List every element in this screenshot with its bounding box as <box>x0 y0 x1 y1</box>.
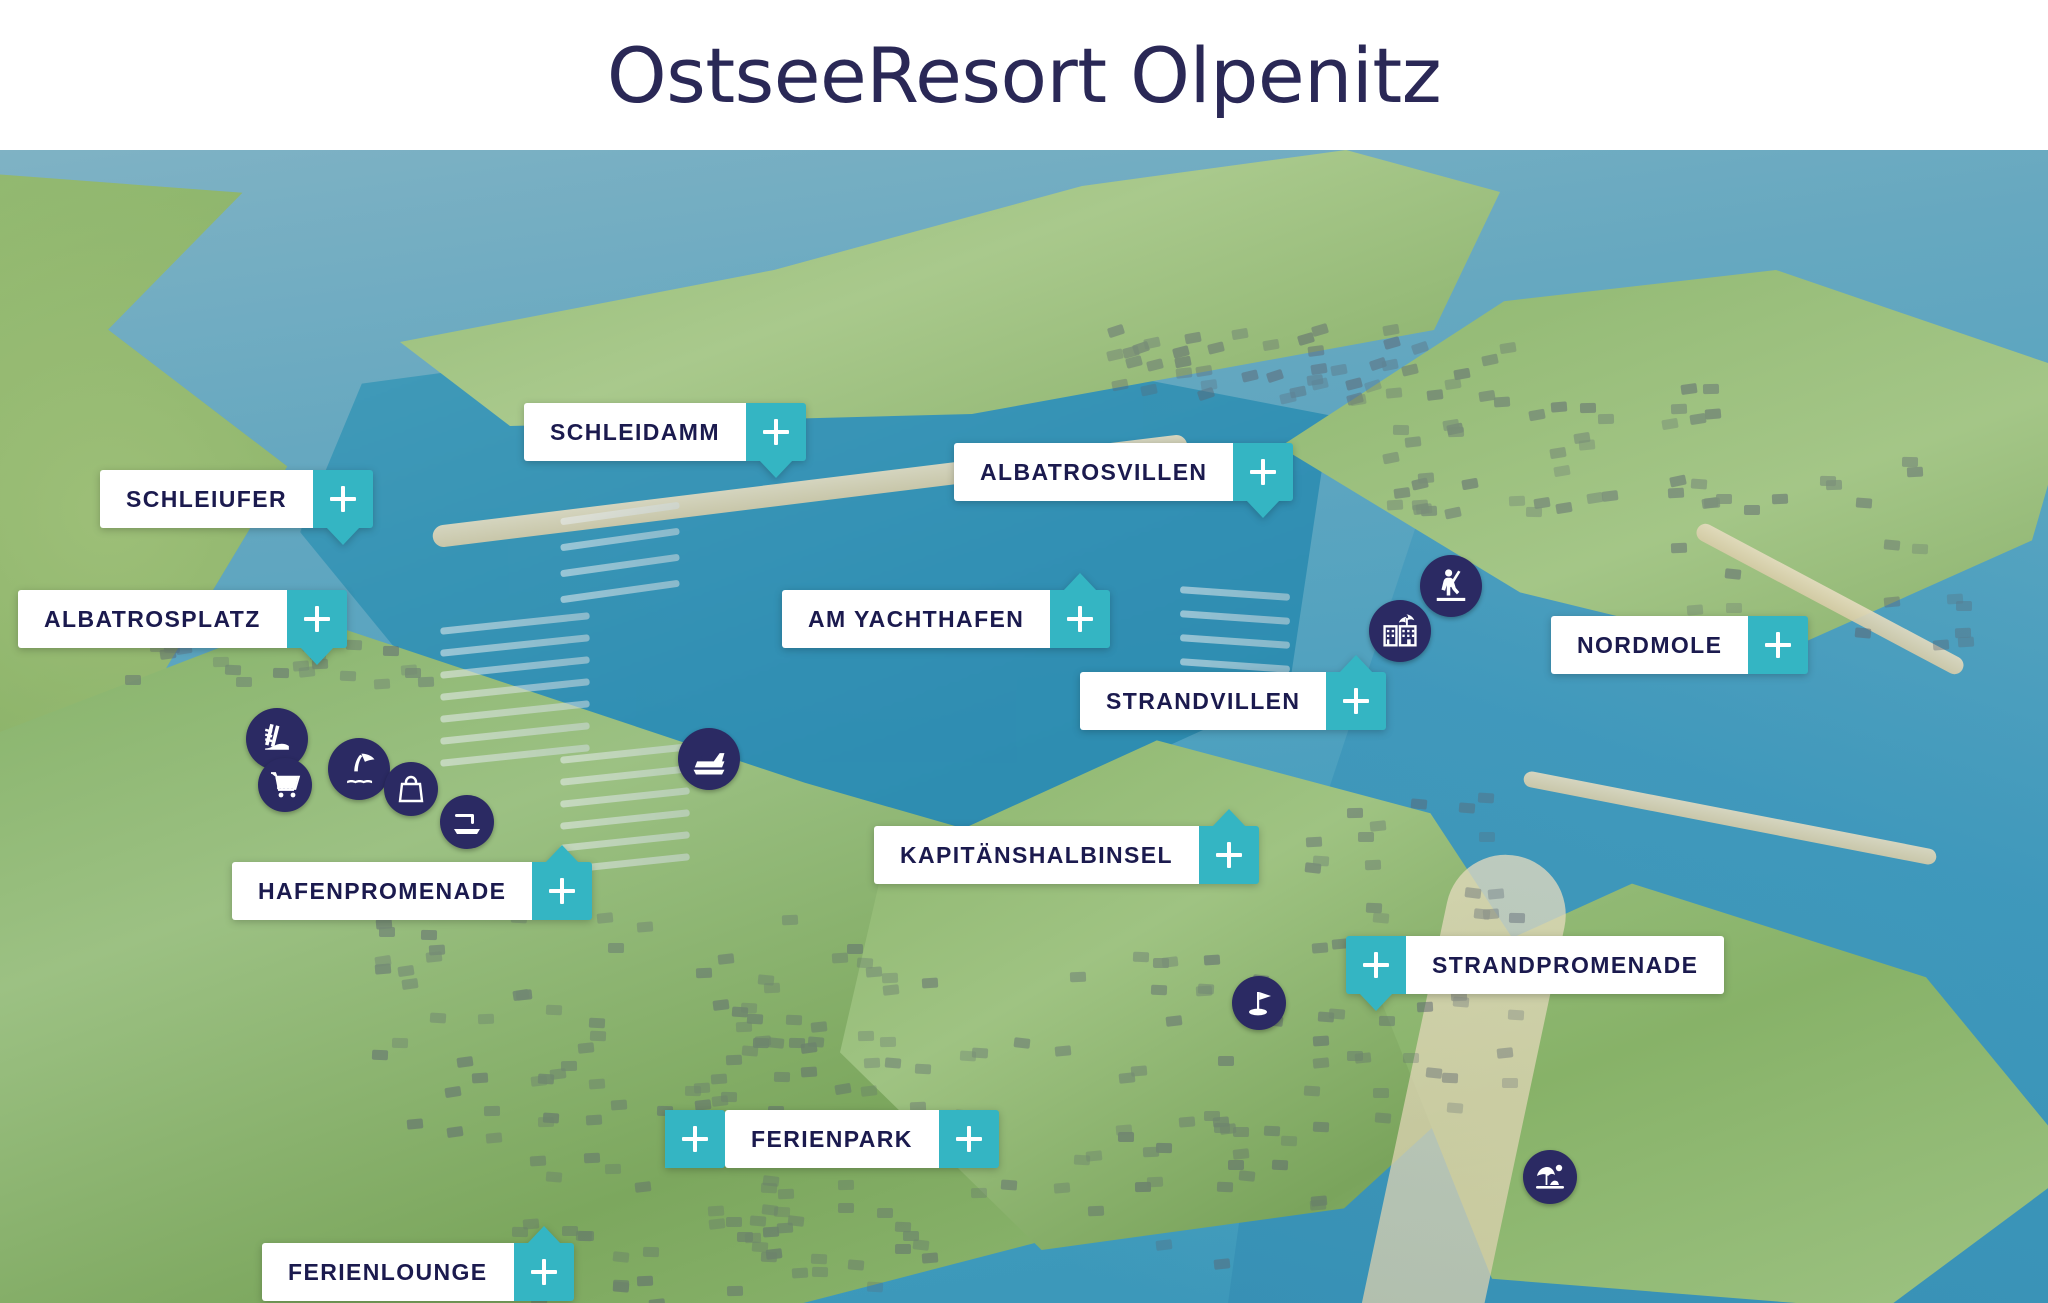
hotspot-label-box[interactable]: STRANDVILLEN <box>1080 672 1326 730</box>
hotspot-label-text: STRANDVILLEN <box>1106 688 1300 715</box>
motor-yacht-icon[interactable] <box>678 728 740 790</box>
page-root: OstseeResort Olpenitz SCHLEIDAMMALBATROS… <box>0 0 2048 1303</box>
hotspot-label-text: ALBATROSVILLEN <box>980 459 1207 486</box>
hotspot-label-text: FERIENLOUNGE <box>288 1259 488 1286</box>
hotspot-label-text: ALBATROSPLATZ <box>44 606 261 633</box>
hotspot-label-text: KAPITÄNSHALBINSEL <box>900 842 1173 869</box>
pointer-up-icon <box>1339 655 1373 673</box>
resort-map[interactable]: SCHLEIDAMMALBATROSVILLENSCHLEIUFERALBATR… <box>0 150 2048 1303</box>
pointer-down-icon <box>1246 500 1280 518</box>
hotspot-schleidamm[interactable]: SCHLEIDAMM <box>524 403 806 461</box>
shopping-cart-icon[interactable] <box>258 758 312 812</box>
plus-icon[interactable] <box>532 862 592 920</box>
hotspot-schleiufer[interactable]: SCHLEIUFER <box>100 470 373 528</box>
page-title: OstseeResort Olpenitz <box>607 31 1441 120</box>
hotspot-label-text: HAFENPROMENADE <box>258 878 506 905</box>
beach-umbrella-icon[interactable] <box>1523 1150 1577 1204</box>
plus-icon[interactable] <box>313 470 373 528</box>
hotspot-label-text: SCHLEIUFER <box>126 486 287 513</box>
kitesurf-icon[interactable] <box>328 738 390 800</box>
hotspot-label-text: SCHLEIDAMM <box>550 419 720 446</box>
hotspot-label-box[interactable]: FERIENLOUNGE <box>262 1243 514 1301</box>
hotspot-label-box[interactable]: KAPITÄNSHALBINSEL <box>874 826 1199 884</box>
hotspot-label-text: FERIENPARK <box>751 1126 913 1153</box>
hotspot-albatrosplatz[interactable]: ALBATROSPLATZ <box>18 590 347 648</box>
hotspot-label-box[interactable]: AM YACHTHAFEN <box>782 590 1050 648</box>
hotspot-ferienlounge[interactable]: FERIENLOUNGE <box>262 1243 574 1301</box>
hotspot-label-box[interactable]: NORDMOLE <box>1551 616 1748 674</box>
pointer-up-icon <box>1063 573 1097 591</box>
plus-icon[interactable] <box>746 403 806 461</box>
golf-flag-icon[interactable] <box>1232 976 1286 1030</box>
plus-icon[interactable] <box>1346 936 1406 994</box>
hotspot-label-box[interactable]: SCHLEIUFER <box>100 470 313 528</box>
hotspot-label-box[interactable]: ALBATROSVILLEN <box>954 443 1233 501</box>
pointer-up-icon <box>545 845 579 863</box>
pointer-up-icon <box>1212 809 1246 827</box>
shopping-bag-icon[interactable] <box>384 762 438 816</box>
hotspot-label-box[interactable]: HAFENPROMENADE <box>232 862 532 920</box>
hotspot-label-text: NORDMOLE <box>1577 632 1722 659</box>
hotspot-label-box[interactable]: FERIENPARK <box>725 1110 939 1168</box>
pointer-down-icon <box>759 460 793 478</box>
hotspot-kapitaenshalbinsel[interactable]: KAPITÄNSHALBINSEL <box>874 826 1259 884</box>
plus-icon[interactable] <box>939 1110 999 1168</box>
hotspot-strandpromenade[interactable]: STRANDPROMENADE <box>1346 936 1724 994</box>
plus-icon[interactable] <box>665 1110 725 1168</box>
hotspot-albatrosvillen[interactable]: ALBATROSVILLEN <box>954 443 1293 501</box>
page-header: OstseeResort Olpenitz <box>0 0 2048 150</box>
hotspot-am-yachthafen[interactable]: AM YACHTHAFEN <box>782 590 1110 648</box>
plus-icon[interactable] <box>1233 443 1293 501</box>
hotspot-hafenpromenade[interactable]: HAFENPROMENADE <box>232 862 592 920</box>
plus-icon[interactable] <box>287 590 347 648</box>
plus-icon[interactable] <box>1199 826 1259 884</box>
resort-building-icon[interactable] <box>1369 600 1431 662</box>
hotspot-label-text: STRANDPROMENADE <box>1432 952 1698 979</box>
pointer-down-icon <box>326 527 360 545</box>
plus-icon[interactable] <box>1050 590 1110 648</box>
plus-icon[interactable] <box>1326 672 1386 730</box>
pointer-up-icon <box>527 1226 561 1244</box>
pointer-down-icon <box>300 647 334 665</box>
hotspot-label-box[interactable]: ALBATROSPLATZ <box>18 590 287 648</box>
hotspot-label-box[interactable]: SCHLEIDAMM <box>524 403 746 461</box>
hotspot-ferienpark[interactable]: FERIENPARK <box>665 1110 999 1168</box>
boat-ramp-icon[interactable] <box>440 795 494 849</box>
hotspot-label-text: AM YACHTHAFEN <box>808 606 1024 633</box>
plus-icon[interactable] <box>514 1243 574 1301</box>
paddleboard-icon[interactable] <box>1420 555 1482 617</box>
hotspot-nordmole[interactable]: NORDMOLE <box>1551 616 1808 674</box>
pointer-down-icon <box>1359 993 1393 1011</box>
plus-icon[interactable] <box>1748 616 1808 674</box>
hotspot-label-box[interactable]: STRANDPROMENADE <box>1406 936 1724 994</box>
hotspot-strandvillen[interactable]: STRANDVILLEN <box>1080 672 1386 730</box>
